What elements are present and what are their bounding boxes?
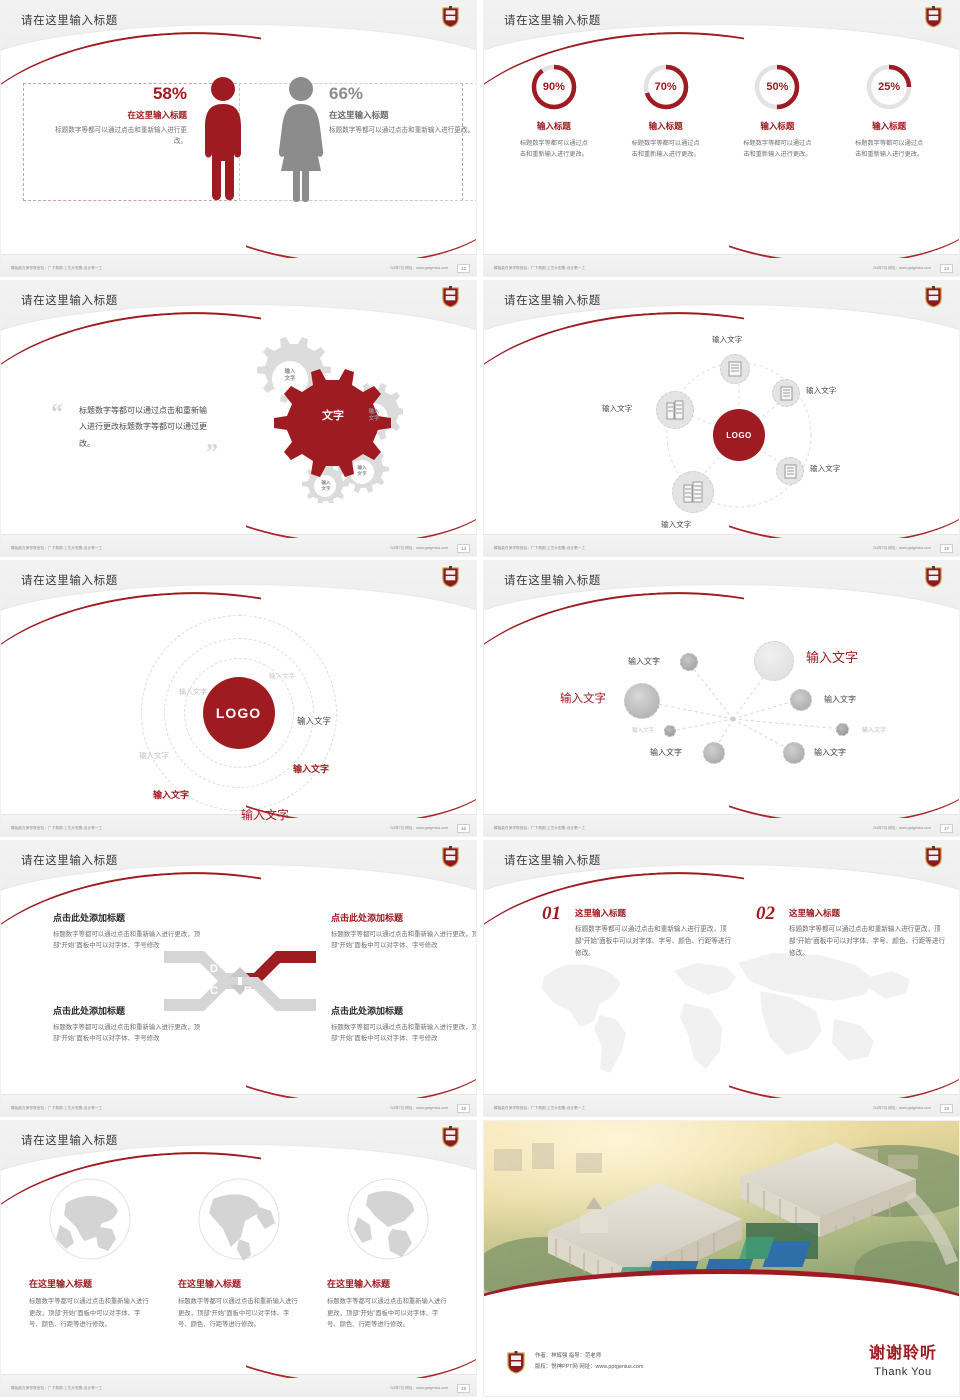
page-number: 14 <box>457 544 470 553</box>
network-node[interactable] <box>790 689 812 711</box>
university-crest-icon <box>441 1125 460 1148</box>
quadrant-body: 标题数字等都可以通过点击和重新输入进行更改，顶部“开始”面板中可以对字体、字号修… <box>331 929 477 951</box>
footer-left-text: 模板能在美学院官站：广下载图-工艺片型图-设计第一工 <box>494 1106 585 1111</box>
footer-left-text: 模板能在美学院官站：广下载图-工艺片型图-设计第一工 <box>11 826 102 831</box>
hub-node[interactable] <box>672 471 714 513</box>
page-number: 18 <box>457 1104 470 1113</box>
quadrant-body: 标题数字等都可以通过点击和重新输入进行更改，顶部“开始”面板中可以对字体、字号修… <box>331 1022 477 1044</box>
page-number: 17 <box>940 824 953 833</box>
item-heading: 这里输入标题 <box>575 907 732 919</box>
kpi-desc: 标题数字等都可以通过点击和重新输入进行更改。 <box>518 139 590 160</box>
kpi-desc: 标题数字等都可以通过点击和重新输入进行更改。 <box>741 139 813 160</box>
quadrant-block-top-right[interactable]: 点击此处添加标题 标题数字等都可以通过点击和重新输入进行更改，顶部“开始”面板中… <box>331 911 477 951</box>
kpi-title: 输入标题 <box>833 120 945 132</box>
stat-left-desc: 标题数字等都可以通过点击和重新输入进行更改。 <box>47 126 187 148</box>
quadrant-block-bottom-right[interactable]: 点击此处添加标题 标题数字等都可以通过点击和重新输入进行更改，顶部“开始”面板中… <box>331 1004 477 1044</box>
arrow-letter-c: C <box>210 985 218 997</box>
page-number: 15 <box>940 544 953 553</box>
footer-right-text: D4年7月 网址：www.pptgenius.com <box>873 826 931 831</box>
donut-chart: 25% <box>865 63 913 111</box>
male-figure-icon <box>199 75 247 203</box>
page-number: 19 <box>457 1384 470 1393</box>
numbered-item-01[interactable]: 01 这里输入标题 标题数字等都可以通过点击和重新输入进行更改，顶部“开始”面板… <box>542 907 732 961</box>
kpi-title: 输入标题 <box>722 120 834 132</box>
concentric-label: 输入文字 <box>241 806 289 823</box>
world-map-decoration <box>524 941 924 1081</box>
university-crest-icon <box>441 285 460 308</box>
gear-diagram: 输入 文字 输入 文字 输入 文字 输入 文字 文字 <box>223 333 403 503</box>
building-icon <box>683 481 703 503</box>
university-crest-icon <box>441 5 460 28</box>
page-title: 请在这里输入标题 <box>504 12 601 28</box>
building-icon <box>728 361 742 377</box>
network-node[interactable] <box>754 641 794 681</box>
university-crest-icon <box>441 565 460 588</box>
network-label: 输入文字 <box>650 747 682 758</box>
quote-text: 标题数字等都可以通过点击和重新输入进行更改标题数字等都可以通过更改。 <box>79 403 209 452</box>
thank-you-block: 谢谢聆听 Thank You <box>869 1339 937 1378</box>
footer-right-text: D4年7月 网址：www.pptgenius.com <box>390 546 448 551</box>
slide-three-globes[interactable]: 请在这里输入标题 在这里输入标题 标题数字 <box>0 1120 477 1397</box>
thanks-english: Thank You <box>869 1366 937 1378</box>
page-title: 请在这里输入标题 <box>21 852 118 868</box>
quadrant-heading: 点击此处添加标题 <box>331 1004 477 1017</box>
network-label: 输入文字 <box>632 726 654 734</box>
slide-people-percent[interactable]: 请在这里输入标题 58% <box>0 0 477 277</box>
footer-left-text: 模板能在美学院官站：广下载图-工艺片型图-设计第一工 <box>11 1106 102 1111</box>
network-label: 输入文字 <box>824 694 856 705</box>
hub-node-label: 输入文字 <box>661 519 691 530</box>
donut-value: 90% <box>530 63 578 111</box>
gear-label-top: 输入 文字 <box>275 369 305 384</box>
slide-concentric-logo[interactable]: 请在这里输入标题 LOGO 输入文字 输入文字 输入文字 输入文字 输入文字 输… <box>0 560 477 837</box>
network-node[interactable] <box>783 742 805 764</box>
credit-author-line: 作者：林辉强 指导：范老师 <box>535 1351 643 1362</box>
page-number: 12 <box>457 264 470 273</box>
university-crest-icon <box>441 845 460 868</box>
footer-right-text: D4年7月 网址：www.pptgenius.com <box>390 826 448 831</box>
author-credit: 作者：林辉强 指导：范老师 版权：悦神PPT网 网址：www.pptgenius… <box>506 1350 643 1374</box>
quadrant-heading: 点击此处添加标题 <box>331 911 477 924</box>
slide-thank-you[interactable]: 作者：林辉强 指导：范老师 版权：悦神PPT网 网址：www.pptgenius… <box>483 1120 960 1397</box>
hub-node-label: 输入文字 <box>806 385 836 396</box>
concentric-label: 输入文字 <box>293 762 329 775</box>
donut-value: 50% <box>753 63 801 111</box>
gear-label-bottom: 输入 文字 <box>313 480 339 492</box>
page-title: 请在这里输入标题 <box>21 292 118 308</box>
footer-right-text: D4年7月 网址：www.pptgenius.com <box>390 1106 448 1111</box>
hub-node-label: 输入文字 <box>602 403 632 414</box>
slide-deck: 请在这里输入标题 58% <box>0 0 960 1400</box>
page-title: 请在这里输入标题 <box>504 292 601 308</box>
arrow-letter-b: B <box>244 985 252 997</box>
item-body: 标题数字等都可以通过点击和重新输入进行更改，顶部“开始”面板中可以对字体、字号、… <box>575 924 732 961</box>
kpi-title: 输入标题 <box>498 120 610 132</box>
page-number: 13 <box>940 264 953 273</box>
building-icon <box>784 464 797 479</box>
footer-left-text: 模板能在美学院官站：广下载图-工艺片型图-设计第一工 <box>494 266 585 271</box>
hub-node[interactable] <box>720 354 750 384</box>
concentric-core-logo[interactable]: LOGO <box>203 677 275 749</box>
gear-label-right: 输入 文字 <box>359 409 389 424</box>
hub-node[interactable] <box>776 457 804 485</box>
donut-value: 25% <box>865 63 913 111</box>
network-node[interactable] <box>703 742 725 764</box>
slide-logo-hub[interactable]: 请在这里输入标题 LOGO 输入文字 <box>483 280 960 557</box>
footer-left-text: 模板能在美学院官站：广下载图-工艺片型图-设计第一工 <box>494 546 585 551</box>
network-label: 输入文字 <box>806 647 858 666</box>
concentric-label: 输入文字 <box>297 715 331 727</box>
quote-close-icon: ” <box>206 441 218 465</box>
arrow-letter-a: A <box>244 963 252 975</box>
kpi-item[interactable]: 70% 输入标题 标题数字等都可以通过点击和重新输入进行更改。 <box>610 63 722 160</box>
hub-node[interactable] <box>772 379 800 407</box>
gear-label-main: 文字 <box>308 409 358 424</box>
page-title: 请在这里输入标题 <box>504 572 601 588</box>
female-figure-icon <box>275 75 327 203</box>
network-node[interactable] <box>680 653 698 671</box>
donut-chart: 50% <box>753 63 801 111</box>
footer-left-text: 模板能在美学院官站：广下载图-工艺片型图-设计第一工 <box>494 826 585 831</box>
item-body: 标题数字等都可以通过点击和重新输入进行更改，顶部“开始”面板中可以对字体、字号、… <box>789 924 946 961</box>
thanks-chinese: 谢谢聆听 <box>869 1339 937 1363</box>
network-diagram: 输入文字 输入文字 输入文字 输入文字 输入文字 输入文字 输入文字 输入文字 <box>484 561 959 836</box>
network-label: 输入文字 <box>862 725 886 734</box>
slide-network-nodes[interactable]: 请在这里输入标题 <box>483 560 960 837</box>
globe-item[interactable]: 在这里输入标题 标题数字等都可以通过点击和重新输入进行更改，顶部“开始”面板中可… <box>15 1177 164 1331</box>
globe-item[interactable]: 在这里输入标题 标题数字等都可以通过点击和重新输入进行更改，顶部“开始”面板中可… <box>164 1177 313 1331</box>
item-heading: 这里输入标题 <box>789 907 946 919</box>
network-label: 输入文字 <box>814 747 846 758</box>
hub-diagram: LOGO 输入文字 输入文字 输入文字 输入文字 <box>484 329 959 539</box>
page-number: 16 <box>457 824 470 833</box>
globe-body: 标题数字等都可以通过点击和重新输入进行更改，顶部“开始”面板中可以对字体、字号、… <box>178 1296 299 1331</box>
globe-heading: 在这里输入标题 <box>178 1277 299 1290</box>
footer-left-text: 模板能在美学院官站：广下载图-工艺片型图-设计第一工 <box>11 1386 102 1391</box>
network-label: 输入文字 <box>628 656 660 667</box>
building-icon <box>666 400 684 420</box>
footer-left-text: 模板能在美学院官站：广下载图-工艺片型图-设计第一工 <box>11 546 102 551</box>
stat-right-percent: 66% <box>329 85 477 104</box>
network-label: 输入文字 <box>560 690 606 706</box>
globe-body: 标题数字等都可以通过点击和重新输入进行更改，顶部“开始”面板中可以对字体、字号、… <box>327 1296 448 1331</box>
globe-heading: 在这里输入标题 <box>327 1277 448 1290</box>
globe-icon <box>48 1177 132 1261</box>
page-number: 19 <box>940 1104 953 1113</box>
concentric-label: 输入文字 <box>139 750 169 761</box>
hub-core-logo[interactable]: LOGO <box>713 409 765 461</box>
stat-right: 66% 在这里输入标题 标题数字等都可以通过点击和重新输入进行更改。 <box>329 85 477 137</box>
globe-heading: 在这里输入标题 <box>29 1277 150 1290</box>
page-title: 请在这里输入标题 <box>21 12 118 28</box>
stat-left: 58% 在这里输入标题 标题数字等都可以通过点击和重新输入进行更改。 <box>47 85 187 147</box>
network-node[interactable] <box>664 725 676 737</box>
network-node[interactable] <box>836 723 849 736</box>
network-node[interactable] <box>624 683 660 719</box>
item-number: 02 <box>756 903 775 925</box>
footer-right-text: D4年7月 网址：www.pptgenius.com <box>873 546 931 551</box>
stat-right-subtitle: 在这里输入标题 <box>329 109 477 121</box>
gear-label-mid: 输入 文字 <box>349 465 375 477</box>
abcd-arrow-graphic: D A C B <box>164 941 316 1021</box>
donut-chart: 90% <box>530 63 578 111</box>
kpi-title: 输入标题 <box>610 120 722 132</box>
globe-icon <box>197 1177 281 1261</box>
arrow-letter-d: D <box>210 963 218 975</box>
university-crest-icon <box>924 285 943 308</box>
slide-numbered-worldmap[interactable]: 请在这里输入标题 01 这里输入标题 <box>483 840 960 1117</box>
hub-node[interactable] <box>656 391 694 429</box>
donut-value: 70% <box>642 63 690 111</box>
people-chart: 58% 在这里输入标题 标题数字等都可以通过点击和重新输入进行更改。 66% 在… <box>17 59 460 229</box>
kpi-donut-row: 90% 输入标题 标题数字等都可以通过点击和重新输入进行更改。 70% 输入标题 <box>498 63 945 160</box>
university-crest-icon <box>924 845 943 868</box>
university-crest-icon <box>924 5 943 28</box>
footer-right-text: D4年7月 网址：www.pptgenius.com <box>390 1386 448 1391</box>
kpi-desc: 标题数字等都可以通过点击和重新输入进行更改。 <box>853 139 925 160</box>
stat-left-subtitle: 在这里输入标题 <box>47 109 187 121</box>
footer-right-text: D4年7月 网址：www.pptgenius.com <box>390 266 448 271</box>
globe-columns: 在这里输入标题 标题数字等都可以通过点击和重新输入进行更改，顶部“开始”面板中可… <box>15 1177 462 1331</box>
slide-donut-kpis[interactable]: 请在这里输入标题 90% 输入标题 标题数字等都可以通过点击和重新输入进行 <box>483 0 960 277</box>
globe-body: 标题数字等都可以通过点击和重新输入进行更改，顶部“开始”面板中可以对字体、字号、… <box>29 1296 150 1331</box>
hub-node-label: 输入文字 <box>712 334 742 345</box>
kpi-desc: 标题数字等都可以通过点击和重新输入进行更改。 <box>630 139 702 160</box>
donut-chart: 70% <box>642 63 690 111</box>
concentric-label: 输入文字 <box>269 670 295 680</box>
kpi-item[interactable]: 90% 输入标题 标题数字等都可以通过点击和重新输入进行更改。 <box>498 63 610 160</box>
item-number: 01 <box>542 903 561 925</box>
page-title: 请在这里输入标题 <box>21 572 118 588</box>
quadrant-body: 标题数字等都可以通过点击和重新输入进行更改，顶部“开始”面板中可以对字体、字号修… <box>53 1022 213 1044</box>
footer-left-text: 模板能在美学院官站：广下载图-工艺片型图-设计第一工 <box>11 266 102 271</box>
kpi-item[interactable]: 25% 输入标题 标题数字等都可以通过点击和重新输入进行更改。 <box>833 63 945 160</box>
page-title: 请在这里输入标题 <box>504 852 601 868</box>
concentric-diagram: LOGO 输入文字 输入文字 输入文字 输入文字 输入文字 输入文字 输入文字 <box>1 605 476 820</box>
network-connector-lines <box>484 561 960 837</box>
page-title: 请在这里输入标题 <box>21 1132 118 1148</box>
globe-icon <box>346 1177 430 1261</box>
stat-right-desc: 标题数字等都可以通过点击和重新输入进行更改。 <box>329 126 477 137</box>
concentric-label: 输入文字 <box>179 687 207 697</box>
kpi-item[interactable]: 50% 输入标题 标题数字等都可以通过点击和重新输入进行更改。 <box>722 63 834 160</box>
quadrant-heading: 点击此处添加标题 <box>53 911 213 924</box>
concentric-label: 输入文字 <box>153 788 189 801</box>
university-crest-icon <box>924 565 943 588</box>
numbered-item-02[interactable]: 02 这里输入标题 标题数字等都可以通过点击和重新输入进行更改，顶部“开始”面板… <box>756 907 946 961</box>
university-crest-icon <box>506 1350 526 1374</box>
slide-gears-quote[interactable]: 请在这里输入标题 “ 标题数字等都可以通过点击和重新输入进行更改标题数字等都可以… <box>0 280 477 557</box>
slide-abcd-arrows[interactable]: 请在这里输入标题 点击此处添加标题 标题数字等都可以通过点击和重新输入进行更改，… <box>0 840 477 1117</box>
credit-copyright-line: 版权：悦神PPT网 网址：www.pptgenius.com <box>535 1362 643 1373</box>
stat-left-percent: 58% <box>47 85 187 104</box>
building-icon <box>780 386 793 401</box>
globe-item[interactable]: 在这里输入标题 标题数字等都可以通过点击和重新输入进行更改，顶部“开始”面板中可… <box>313 1177 462 1331</box>
quote-open-icon: “ <box>51 401 63 425</box>
hub-node-label: 输入文字 <box>810 463 840 474</box>
footer-right-text: D4年7月 网址：www.pptgenius.com <box>873 1106 931 1111</box>
footer-right-text: D4年7月 网址：www.pptgenius.com <box>873 266 931 271</box>
